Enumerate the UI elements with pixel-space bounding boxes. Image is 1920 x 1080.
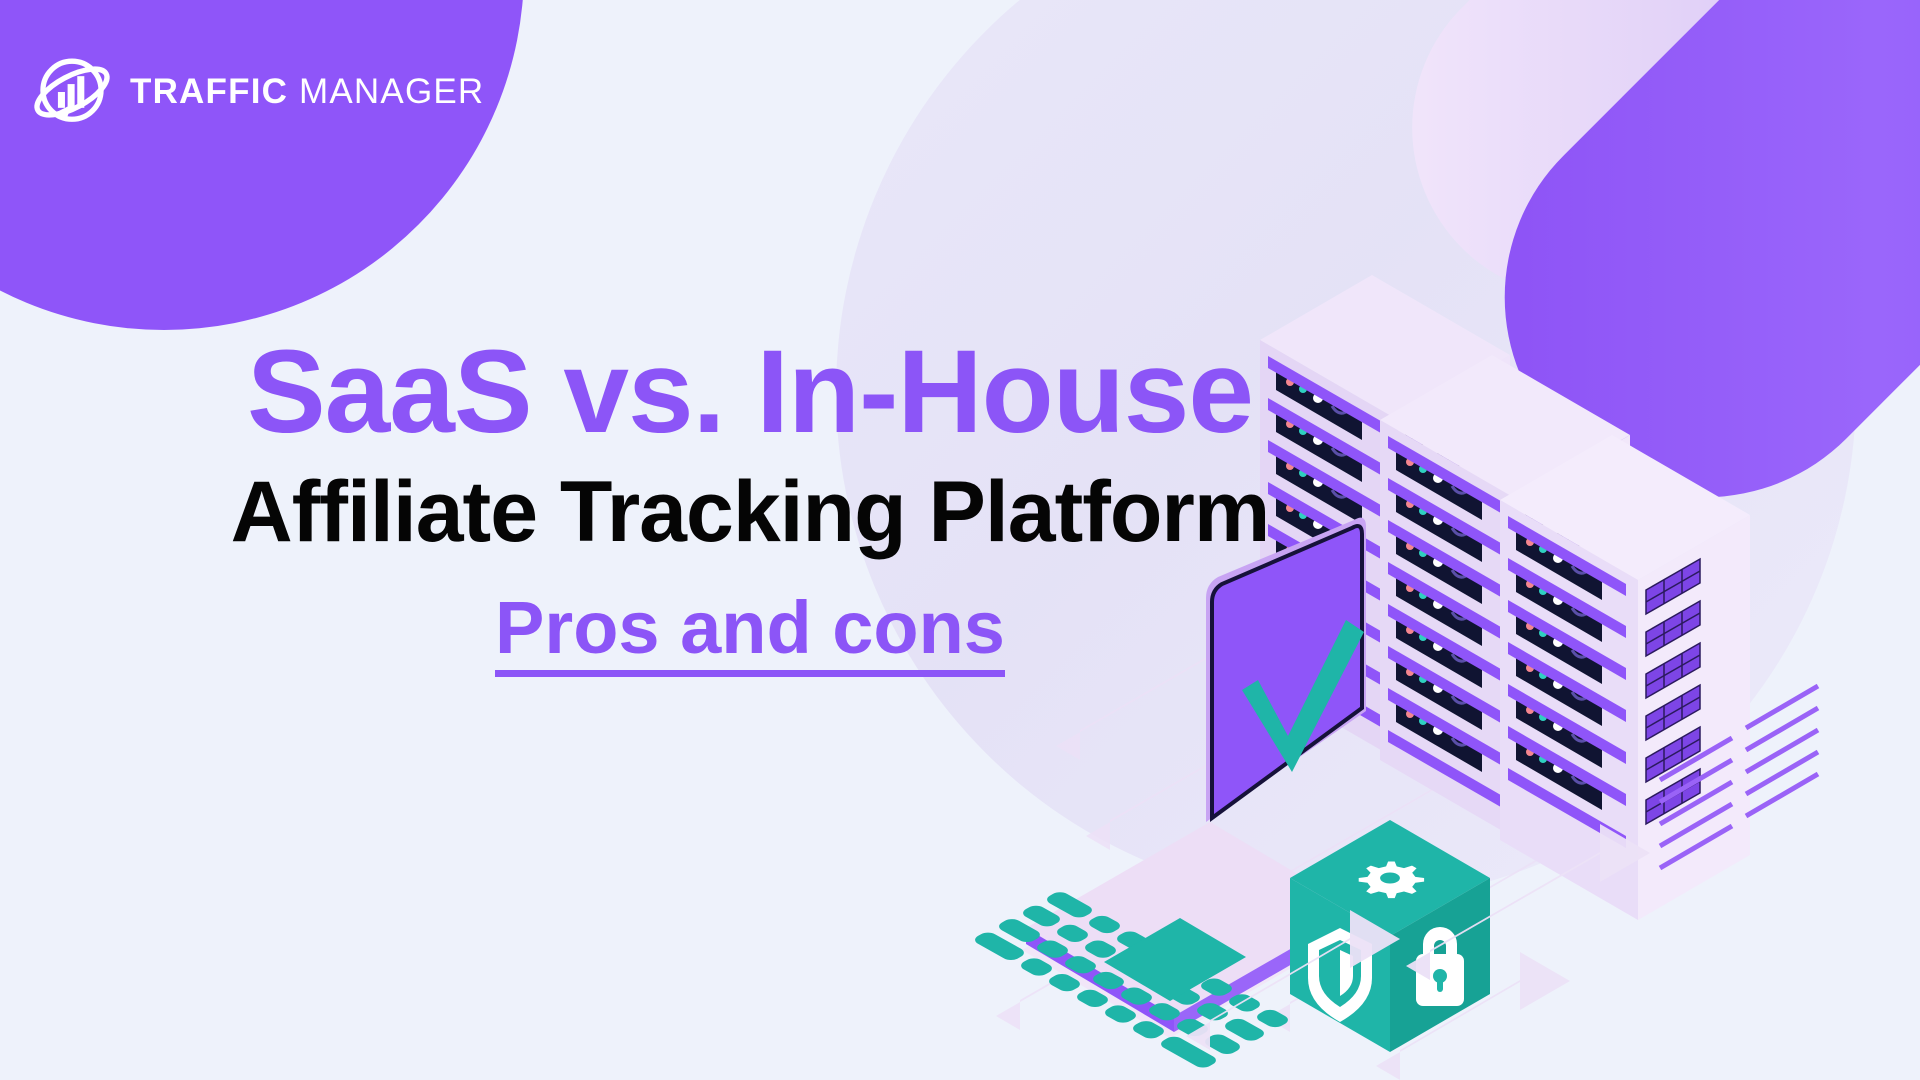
brand-name-light: MANAGER — [288, 72, 484, 111]
globe-bar-chart-icon — [28, 48, 116, 136]
headline-block: SaaS vs. In-House Affiliate Tracking Pla… — [0, 332, 1500, 677]
headline-line-1: SaaS vs. In-House — [0, 332, 1500, 452]
server-rack-front — [1500, 435, 1818, 920]
headline-line-3: Pros and cons — [495, 587, 1005, 677]
brand-logo[interactable]: TRAFFIC MANAGER — [28, 48, 484, 136]
brand-name-bold: TRAFFIC — [130, 72, 288, 111]
headline-line-2: Affiliate Tracking Platform — [0, 464, 1500, 560]
brand-name: TRAFFIC MANAGER — [130, 72, 484, 112]
poster-canvas: TRAFFIC MANAGER SaaS vs. In-House Affili… — [0, 0, 1920, 1080]
